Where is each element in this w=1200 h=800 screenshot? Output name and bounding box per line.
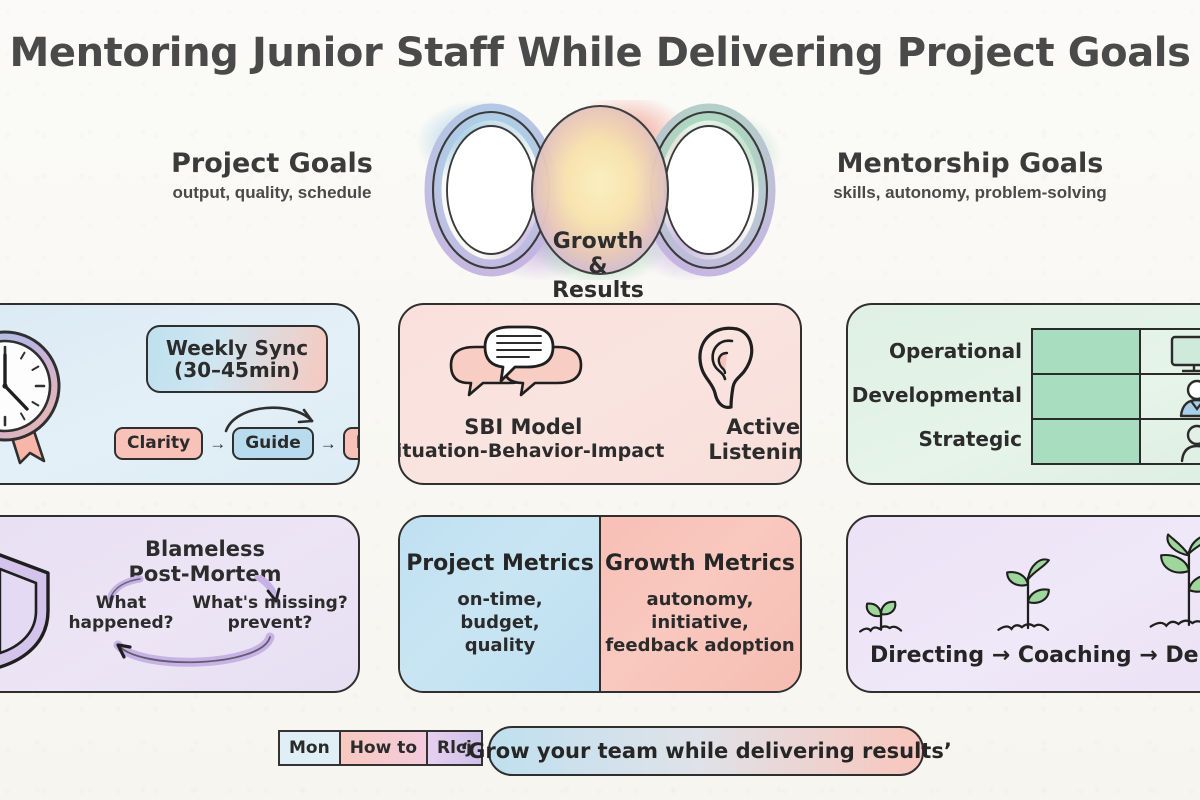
pm-q1-line1: What — [96, 593, 146, 613]
venn-center-line1: Growth — [553, 229, 644, 254]
active-listening-title: Active — [708, 415, 802, 440]
card-post-mortem[interactable]: Blameless Post-Mortem What happened? Wha… — [0, 515, 360, 693]
venn-right-label: Mentorship Goals skills, autonomy, probl… — [760, 148, 1180, 203]
monitor-icon — [1172, 337, 1200, 371]
ear-icon — [687, 323, 759, 415]
growth-metrics-panel: Growth Metrics autonomy, initiative, fee… — [600, 517, 800, 691]
venn-diagram: Growth & Results Project Goals output, q… — [0, 100, 1200, 280]
card-metrics[interactable]: Project Metrics on-time, budget, quality… — [398, 515, 802, 693]
award-clock-icon — [0, 321, 82, 476]
sbi-model-label: SBI Model Situation-Behavior-Impact — [398, 415, 664, 465]
post-mortem-question-2: What's missing? prevent? — [190, 593, 350, 634]
matrix-row-label-strategic: Strategic — [872, 417, 1022, 461]
weekly-sync-badge[interactable]: Weekly Sync (30–45min) — [146, 325, 328, 393]
project-goals-subtext: output, quality, schedule — [92, 183, 452, 203]
venn-center-line2: & — [588, 254, 607, 279]
sprout-stages — [848, 531, 1200, 643]
project-metrics-panel: Project Metrics on-time, budget, quality — [400, 517, 600, 691]
page-title: Mentoring Junior Staff While Delivering … — [0, 30, 1200, 76]
flow-chip-review[interactable]: Review — [343, 427, 360, 460]
weekly-sync-badge-line1: Weekly Sync — [166, 337, 308, 359]
flow-arrow-2: → — [320, 434, 337, 454]
shield-icon — [0, 549, 60, 678]
mentorship-goals-subtext: skills, autonomy, problem-solving — [760, 183, 1180, 203]
project-metrics-title: Project Metrics — [406, 551, 594, 576]
weekly-sync-badge-line2: (30–45min) — [174, 359, 300, 381]
sbi-model-title: SBI Model — [398, 415, 664, 440]
post-mortem-title-line1: Blameless — [145, 537, 265, 561]
footer-quote-pill: ‘Grow your team while delivering results… — [488, 726, 924, 776]
pm-q1-line2: happened? — [68, 613, 173, 633]
matrix-row-label-operational: Operational — [872, 329, 1022, 373]
sprout-icon-large — [1142, 525, 1200, 643]
growth-metrics-title: Growth Metrics — [605, 551, 795, 576]
speech-bubbles-icon — [441, 323, 591, 415]
project-metrics-items: on-time, budget, quality — [457, 588, 542, 657]
infographic-canvas: Mentoring Junior Staff While Delivering … — [0, 0, 1200, 800]
person-shirt-icon — [1181, 381, 1200, 416]
feedback-labels: SBI Model Situation-Behavior-Impact Acti… — [400, 415, 800, 465]
post-mortem-question-1: What happened? — [56, 593, 186, 634]
venn-center-line3: Results — [552, 278, 644, 303]
sbi-model-subtitle: Situation-Behavior-Impact — [398, 440, 664, 462]
venn-center-label: Growth & Results — [516, 230, 680, 304]
mentorship-goals-heading: Mentorship Goals — [760, 148, 1180, 179]
card-feedback[interactable]: SBI Model Situation-Behavior-Impact Acti… — [398, 303, 802, 485]
footer-segment-pill[interactable]: Mon How to Rlcj — [278, 730, 483, 766]
flow-chip-clarity[interactable]: Clarity — [114, 427, 203, 460]
flow-chip-guide[interactable]: Guide — [232, 427, 314, 460]
project-goals-heading: Project Goals — [92, 148, 452, 179]
growth-stages-text: Directing → Coaching → Delegating — [870, 643, 1200, 668]
mentoring-flow: Clarity → Guide → Review — [114, 427, 360, 460]
feedback-icons — [400, 323, 800, 415]
footer-segment-mon[interactable]: Mon — [280, 732, 339, 764]
footer-segment-howto[interactable]: How to — [339, 732, 426, 764]
matrix-grid — [1030, 327, 1200, 467]
venn-left-label: Project Goals output, quality, schedule — [92, 148, 452, 203]
pm-q2-line1: What's missing? — [192, 593, 347, 613]
card-weekly-sync[interactable]: Weekly Sync (30–45min) Clarity → Guide →… — [0, 303, 360, 485]
sprout-icon-small — [848, 573, 914, 643]
card-growth-ladder[interactable]: Directing → Coaching → Delegating — [846, 515, 1200, 693]
person-outline-icon — [1182, 426, 1200, 461]
metrics-divider — [599, 517, 601, 691]
growth-metrics-items: autonomy, initiative, feedback adoption — [605, 588, 794, 657]
pm-q2-line2: prevent? — [228, 613, 313, 633]
matrix-row-labels: Operational Developmental Strategic — [872, 329, 1022, 461]
flow-arrow-1: → — [209, 434, 226, 454]
card-delegation-matrix[interactable]: Operational Developmental Strategic — [846, 303, 1200, 485]
matrix-row-label-developmental: Developmental — [872, 373, 1022, 417]
active-listening-subtitle: Listening — [708, 440, 802, 465]
sprout-icon-medium — [988, 547, 1068, 643]
active-listening-label: Active Listening — [708, 415, 802, 465]
